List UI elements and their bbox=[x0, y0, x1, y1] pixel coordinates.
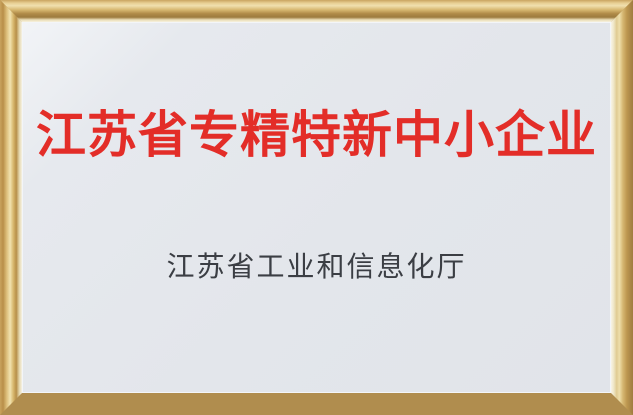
plaque-face: 江苏省专精特新中小企业 江苏省工业和信息化厅 bbox=[22, 22, 611, 393]
frame-band-right bbox=[611, 0, 633, 415]
frame-band-left bbox=[0, 0, 22, 415]
award-plaque-image: 江苏省专精特新中小企业 江苏省工业和信息化厅 bbox=[0, 0, 633, 415]
plaque-content: 江苏省专精特新中小企业 江苏省工业和信息化厅 bbox=[22, 22, 611, 393]
plaque-issuer: 江苏省工业和信息化厅 bbox=[22, 250, 611, 284]
frame-band-top bbox=[0, 0, 633, 22]
frame-band-bottom bbox=[0, 393, 633, 415]
plaque-title: 江苏省专精特新中小企业 bbox=[22, 108, 611, 163]
